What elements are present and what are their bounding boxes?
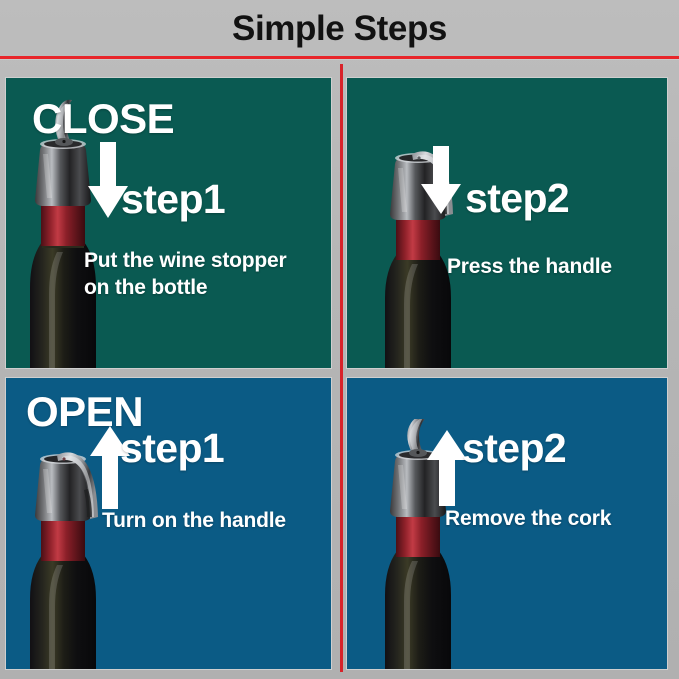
caption-close-step1: Put the wine stopper on the bottle [84,248,332,302]
caption-line-1: Put the wine stopper [84,248,332,275]
header: Simple Steps [0,0,679,58]
instruction-graphic: Simple Steps [0,0,679,679]
step-label-open-2: step2 [462,428,566,469]
step-label-close-1: step1 [121,179,225,220]
step-label-close-2: step2 [465,178,569,219]
panel-open-step2: step2 Remove the cork [346,377,668,670]
caption-close-step2: Press the handle [447,254,667,281]
mode-label-close: CLOSE [32,98,174,140]
caption-open-step2: Remove the cork [445,506,665,533]
panel-close-step1: CLOSE step1 Put the wine stopper on the … [5,77,332,369]
caption-open-step1: Turn on the handle [102,508,330,535]
step-label-open-1: step1 [120,428,224,469]
caption-line-1: Press the handle [447,254,667,281]
panel-close-step2: step2 Press the handle [346,77,668,369]
arrow-down-icon [419,146,463,216]
header-red-rule [0,56,679,59]
caption-line-1: Turn on the handle [102,508,330,535]
page-title: Simple Steps [232,11,447,46]
panel-open-step1: OPEN step1 Turn on the handle [5,377,332,670]
vertical-divider [340,64,343,672]
caption-line-2: on the bottle [84,275,332,302]
caption-line-1: Remove the cork [445,506,665,533]
